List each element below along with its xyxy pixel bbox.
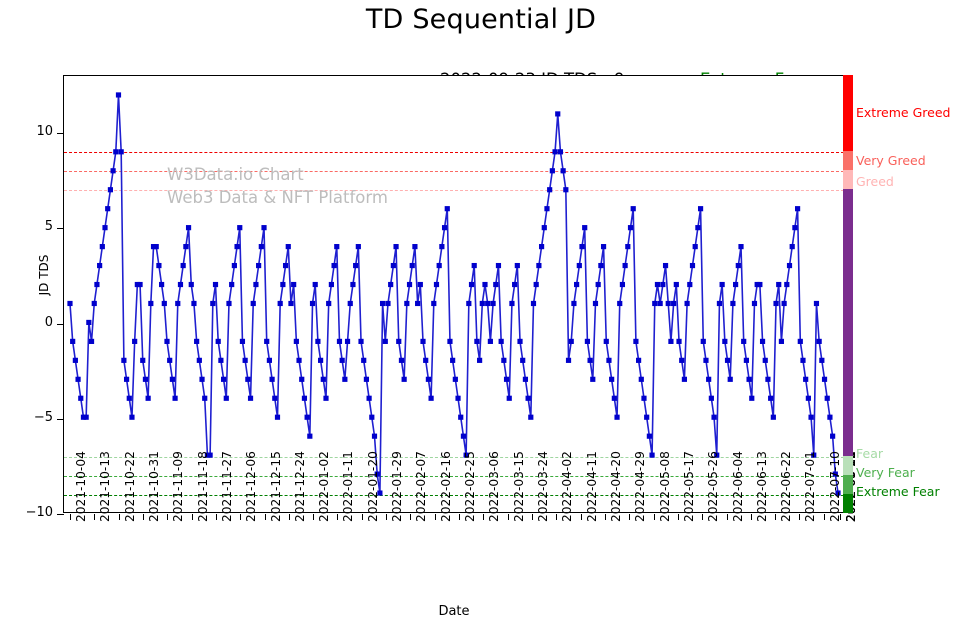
data-point-marker <box>178 282 183 287</box>
data-point-marker <box>162 301 167 306</box>
data-point-marker <box>663 263 668 268</box>
data-point-marker <box>682 377 687 382</box>
data-point-marker <box>181 263 186 268</box>
x-tick-label: 2022-01-20 <box>366 451 380 522</box>
data-point-marker <box>771 415 776 420</box>
data-point-marker <box>86 320 91 325</box>
data-point-marker <box>517 339 522 344</box>
x-tick-label: 2022-06-22 <box>779 451 793 522</box>
data-point-marker <box>243 358 248 363</box>
x-tick-label: 2022-05-08 <box>658 451 672 522</box>
data-point-marker <box>806 396 811 401</box>
data-point-marker <box>749 396 754 401</box>
data-point-marker <box>342 377 347 382</box>
x-tick <box>629 514 630 520</box>
data-point-marker <box>111 168 116 173</box>
data-point-marker <box>752 301 757 306</box>
data-point-marker <box>334 244 339 249</box>
x-tick-label: 2022-02-07 <box>414 451 428 522</box>
data-point-marker <box>423 358 428 363</box>
data-point-marker <box>383 339 388 344</box>
data-point-marker <box>501 358 506 363</box>
data-point-marker <box>404 301 409 306</box>
data-point-marker <box>251 301 256 306</box>
data-point-marker <box>356 244 361 249</box>
data-point-marker <box>278 301 283 306</box>
data-point-marker <box>253 282 258 287</box>
data-point-marker <box>547 187 552 192</box>
data-point-marker <box>226 301 231 306</box>
data-point-marker <box>676 339 681 344</box>
data-point-marker <box>574 282 579 287</box>
data-point-marker <box>272 396 277 401</box>
data-point-marker <box>728 377 733 382</box>
data-point-marker <box>644 415 649 420</box>
data-point-marker <box>625 244 630 249</box>
data-point-marker <box>102 225 107 230</box>
data-point-marker <box>326 301 331 306</box>
series-plot <box>64 76 844 512</box>
data-point-marker <box>660 282 665 287</box>
data-point-marker <box>520 358 525 363</box>
data-point-marker <box>773 301 778 306</box>
data-point-marker <box>760 339 765 344</box>
sentiment-label: Very Fear <box>856 465 915 480</box>
data-point-marker <box>507 396 512 401</box>
data-point-marker <box>768 396 773 401</box>
data-point-marker <box>717 301 722 306</box>
data-point-marker <box>790 244 795 249</box>
colorbar-extreme-greed <box>843 75 853 151</box>
colorbar-fear <box>843 456 853 475</box>
data-point-marker <box>73 358 78 363</box>
data-point-marker <box>757 282 762 287</box>
x-tick-label: 2021-10-04 <box>74 451 88 522</box>
data-point-marker <box>453 377 458 382</box>
data-point-marker <box>582 225 587 230</box>
data-point-marker <box>504 377 509 382</box>
data-point-marker <box>337 339 342 344</box>
x-tick <box>824 514 825 520</box>
data-point-marker <box>172 396 177 401</box>
data-point-marker <box>617 301 622 306</box>
plot-area: W3Data.io Chart Web3 Data & NFT Platform <box>63 75 845 513</box>
data-point-marker <box>571 301 576 306</box>
colorbar-neutral <box>843 189 853 456</box>
data-point-marker <box>396 339 401 344</box>
data-point-marker <box>299 377 304 382</box>
x-tick <box>459 514 460 520</box>
data-point-marker <box>803 377 808 382</box>
data-point-marker <box>499 339 504 344</box>
sentiment-label: Very Greed <box>856 153 926 168</box>
data-point-marker <box>550 168 555 173</box>
data-point-marker <box>485 301 490 306</box>
data-point-marker <box>345 339 350 344</box>
data-point-marker <box>164 339 169 344</box>
data-point-marker <box>736 263 741 268</box>
data-point-marker <box>628 225 633 230</box>
data-point-marker <box>709 396 714 401</box>
data-point-marker <box>302 396 307 401</box>
x-tick <box>799 514 800 520</box>
data-point-marker <box>267 358 272 363</box>
x-tick <box>410 514 411 520</box>
data-point-marker <box>412 244 417 249</box>
data-point-marker <box>245 377 250 382</box>
data-point-marker <box>593 301 598 306</box>
data-point-marker <box>280 282 285 287</box>
data-point-marker <box>127 396 132 401</box>
x-tick-label: 2022-06-13 <box>755 451 769 522</box>
data-point-marker <box>827 415 832 420</box>
x-tick <box>192 514 193 520</box>
y-axis-label: JD TDS <box>37 225 51 325</box>
data-point-marker <box>167 358 172 363</box>
x-tick-label: 2021-12-24 <box>293 451 307 522</box>
data-point-marker <box>558 149 563 154</box>
data-point-marker <box>561 168 566 173</box>
data-point-marker <box>671 301 676 306</box>
colorbar-greed <box>843 170 853 189</box>
data-point-marker <box>636 358 641 363</box>
data-point-marker <box>730 301 735 306</box>
data-point-marker <box>183 244 188 249</box>
data-point-marker <box>534 282 539 287</box>
data-point-marker <box>415 301 420 306</box>
data-point-marker <box>528 415 533 420</box>
data-point-marker <box>536 263 541 268</box>
x-tick <box>167 514 168 520</box>
data-point-marker <box>596 282 601 287</box>
y-tick <box>57 324 64 325</box>
data-point-marker <box>148 301 153 306</box>
data-point-marker <box>830 434 835 439</box>
data-point-marker <box>367 396 372 401</box>
x-tick-label: 2022-07-10 <box>828 451 842 522</box>
x-tick-label: 2022-05-26 <box>706 451 720 522</box>
x-tick <box>508 514 509 520</box>
data-point-marker <box>711 415 716 420</box>
x-tick-label: 2022-04-29 <box>633 451 647 522</box>
data-point-marker <box>741 339 746 344</box>
data-point-marker <box>606 358 611 363</box>
data-point-marker <box>590 377 595 382</box>
sentiment-label: Fear <box>856 446 883 461</box>
data-point-marker <box>798 339 803 344</box>
data-point-marker <box>496 263 501 268</box>
data-point-marker <box>693 244 698 249</box>
data-point-marker <box>170 377 175 382</box>
data-point-marker <box>259 244 264 249</box>
data-point-marker <box>808 415 813 420</box>
data-point-marker <box>100 244 105 249</box>
data-point-marker <box>261 225 266 230</box>
sentiment-colorbar <box>843 75 853 513</box>
x-tick-label: 2022-02-16 <box>439 451 453 522</box>
data-point-marker <box>825 396 830 401</box>
data-point-marker <box>598 263 603 268</box>
data-point-marker <box>695 225 700 230</box>
data-point-marker <box>633 339 638 344</box>
data-point-marker <box>388 282 393 287</box>
data-point-marker <box>474 339 479 344</box>
data-point-marker <box>140 358 145 363</box>
data-point-marker <box>353 263 358 268</box>
data-point-marker <box>240 339 245 344</box>
x-tick-label: 2021-11-27 <box>220 451 234 522</box>
data-point-marker <box>175 301 180 306</box>
x-tick-label: 2022-02-25 <box>463 451 477 522</box>
x-tick <box>435 514 436 520</box>
data-point-marker <box>701 339 706 344</box>
data-point-marker <box>577 263 582 268</box>
data-point-marker <box>296 358 301 363</box>
data-point-marker <box>800 358 805 363</box>
data-point-marker <box>733 282 738 287</box>
data-point-marker <box>469 282 474 287</box>
data-point-marker <box>121 358 126 363</box>
data-point-marker <box>679 358 684 363</box>
x-tick <box>556 514 557 520</box>
data-point-marker <box>526 396 531 401</box>
data-point-marker <box>817 339 822 344</box>
data-point-marker <box>361 358 366 363</box>
x-tick-label: 2022-04-02 <box>560 451 574 522</box>
x-tick-label: 2022-04-11 <box>585 451 599 522</box>
data-point-marker <box>318 358 323 363</box>
data-point-marker <box>97 263 102 268</box>
x-tick <box>605 514 606 520</box>
data-point-marker <box>307 434 312 439</box>
data-point-marker <box>113 149 118 154</box>
data-point-marker <box>720 282 725 287</box>
data-point-marker <box>108 187 113 192</box>
sentiment-label: Greed <box>856 174 894 189</box>
data-point-marker <box>321 377 326 382</box>
data-point-marker <box>78 396 83 401</box>
sentiment-label: Extreme Greed <box>856 105 950 120</box>
x-tick <box>70 514 71 520</box>
data-point-marker <box>555 111 560 116</box>
data-point-marker <box>364 377 369 382</box>
data-point-marker <box>143 377 148 382</box>
data-point-marker <box>67 301 72 306</box>
x-tick-label: 2021-10-31 <box>147 451 161 522</box>
data-point-marker <box>765 377 770 382</box>
data-point-marker <box>493 282 498 287</box>
data-point-marker <box>232 263 237 268</box>
data-point-marker <box>248 396 253 401</box>
x-tick <box>313 514 314 520</box>
data-point-marker <box>156 263 161 268</box>
data-point-marker <box>614 415 619 420</box>
data-point-marker <box>283 263 288 268</box>
y-tick-label: 0 <box>7 315 53 330</box>
y-tick <box>57 419 64 420</box>
x-tick <box>337 514 338 520</box>
data-point-marker <box>512 282 517 287</box>
data-point-marker <box>210 301 215 306</box>
data-point-marker <box>690 263 695 268</box>
data-point-marker <box>585 339 590 344</box>
x-tick <box>678 514 679 520</box>
x-tick <box>240 514 241 520</box>
data-point-marker <box>458 415 463 420</box>
data-point-marker <box>224 396 229 401</box>
data-point-marker <box>641 396 646 401</box>
x-tick-label: 2021-10-13 <box>98 451 112 522</box>
data-point-marker <box>782 301 787 306</box>
data-point-marker <box>531 301 536 306</box>
data-point-marker <box>563 187 568 192</box>
x-tick <box>581 514 582 520</box>
data-point-marker <box>310 301 315 306</box>
data-point-marker <box>234 244 239 249</box>
data-point-marker <box>623 263 628 268</box>
data-point-marker <box>420 339 425 344</box>
x-tick <box>362 514 363 520</box>
data-point-marker <box>191 301 196 306</box>
data-point-marker <box>746 377 751 382</box>
x-tick-label: 2022-01-29 <box>390 451 404 522</box>
colorbar-extreme-fear <box>843 494 853 513</box>
data-point-marker <box>437 263 442 268</box>
data-point-marker <box>455 396 460 401</box>
data-point-marker <box>779 339 784 344</box>
x-tick <box>386 514 387 520</box>
data-point-marker <box>685 301 690 306</box>
data-point-marker <box>725 358 730 363</box>
x-tick-label: 2022-05-17 <box>682 451 696 522</box>
data-point-marker <box>784 282 789 287</box>
data-point-marker <box>154 244 159 249</box>
y-tick-label: −10 <box>7 505 53 520</box>
x-tick <box>265 514 266 520</box>
data-point-marker <box>601 244 606 249</box>
data-point-marker <box>199 377 204 382</box>
data-point-marker <box>159 282 164 287</box>
data-point-marker <box>744 358 749 363</box>
chart-page: TD Sequential JD 2022-09-23 JD TDS: -9 E… <box>0 0 962 633</box>
data-point-marker <box>649 453 654 458</box>
data-point-marker <box>137 282 142 287</box>
data-point-marker <box>410 263 415 268</box>
data-point-marker <box>666 301 671 306</box>
data-point-marker <box>822 377 827 382</box>
data-point-marker <box>738 244 743 249</box>
data-point-marker <box>89 339 94 344</box>
data-point-marker <box>116 92 121 97</box>
data-point-marker <box>447 339 452 344</box>
data-point-marker <box>229 282 234 287</box>
data-point-marker <box>270 377 275 382</box>
data-point-marker <box>402 377 407 382</box>
data-point-marker <box>792 225 797 230</box>
data-point-marker <box>434 282 439 287</box>
data-point-marker <box>372 434 377 439</box>
y-tick-label: 5 <box>7 219 53 234</box>
x-tick <box>94 514 95 520</box>
data-point-marker <box>461 434 466 439</box>
data-point-marker <box>216 339 221 344</box>
data-point-marker <box>609 377 614 382</box>
data-point-marker <box>482 282 487 287</box>
data-point-marker <box>477 358 482 363</box>
data-point-marker <box>350 282 355 287</box>
x-axis-label: Date <box>0 604 908 619</box>
data-point-marker <box>426 377 431 382</box>
data-point-marker <box>348 301 353 306</box>
data-point-marker <box>124 377 129 382</box>
x-tick <box>727 514 728 520</box>
data-point-marker <box>668 339 673 344</box>
data-point-marker <box>94 282 99 287</box>
sentiment-label: Extreme Fear <box>856 484 940 499</box>
y-tick <box>57 514 64 515</box>
data-point-marker <box>763 358 768 363</box>
data-point-marker <box>380 301 385 306</box>
data-point-marker <box>787 263 792 268</box>
data-point-marker <box>189 282 194 287</box>
colorbar-very-fear <box>843 475 853 494</box>
data-point-marker <box>612 396 617 401</box>
data-point-marker <box>105 206 110 211</box>
data-point-marker <box>291 282 296 287</box>
data-point-marker <box>445 206 450 211</box>
data-point-marker <box>480 301 485 306</box>
data-point-marker <box>264 339 269 344</box>
data-point-marker <box>466 301 471 306</box>
data-point-marker <box>658 301 663 306</box>
data-point-marker <box>604 339 609 344</box>
data-point-marker <box>620 282 625 287</box>
data-point-marker <box>722 339 727 344</box>
data-point-marker <box>75 377 80 382</box>
data-point-marker <box>313 282 318 287</box>
data-point-marker <box>542 225 547 230</box>
data-point-marker <box>218 358 223 363</box>
data-point-marker <box>429 396 434 401</box>
data-point-marker <box>703 358 708 363</box>
x-tick <box>654 514 655 520</box>
data-point-marker <box>706 377 711 382</box>
y-tick <box>57 228 64 229</box>
data-point-marker <box>129 415 134 420</box>
data-point-marker <box>819 358 824 363</box>
x-tick <box>483 514 484 520</box>
data-point-marker <box>552 149 557 154</box>
y-tick-label: −5 <box>7 410 53 425</box>
data-point-marker <box>655 282 660 287</box>
x-tick-label: 2022-04-20 <box>609 451 623 522</box>
data-point-marker <box>221 377 226 382</box>
x-tick-label: 2021-10-22 <box>123 451 137 522</box>
data-point-marker <box>407 282 412 287</box>
data-point-marker <box>323 396 328 401</box>
data-point-marker <box>202 396 207 401</box>
x-tick-label: 2021-11-18 <box>196 451 210 522</box>
data-point-marker <box>587 358 592 363</box>
x-tick-label: 2022-01-02 <box>317 451 331 522</box>
page-title: TD Sequential JD <box>0 4 962 35</box>
x-tick <box>143 514 144 520</box>
data-point-marker <box>305 415 310 420</box>
data-point-marker <box>539 244 544 249</box>
data-point-marker <box>652 301 657 306</box>
data-point-marker <box>515 263 520 268</box>
data-point-marker <box>132 339 137 344</box>
